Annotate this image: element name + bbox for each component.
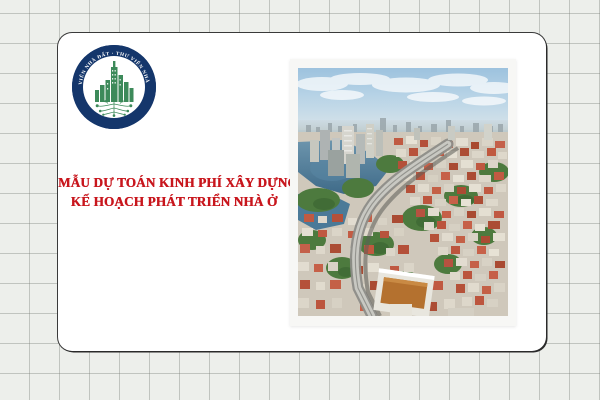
page-title: MẪU DỰ TOÁN KINH PHÍ XÂY DỰNG KẾ HOẠCH P… <box>58 173 290 211</box>
content-card: THƯ VIỆN NHÀ ĐẤT · THƯ VIỆN NHÀ ĐẤT www.… <box>58 33 546 351</box>
photo-frame <box>290 59 516 326</box>
page-title-line-2: KẾ HOẠCH PHÁT TRIỂN NHÀ Ở <box>58 192 290 211</box>
page-title-line-1: MẪU DỰ TOÁN KINH PHÍ XÂY DỰNG <box>58 173 290 192</box>
thu-vien-nha-dat-logo: THƯ VIỆN NHÀ ĐẤT · THƯ VIỆN NHÀ ĐẤT www.… <box>72 45 156 129</box>
logo-city-emblem-icon <box>72 45 156 129</box>
page-canvas: THƯ VIỆN NHÀ ĐẤT · THƯ VIỆN NHÀ ĐẤT www.… <box>0 0 600 400</box>
aerial-cityscape-photo <box>298 68 508 316</box>
